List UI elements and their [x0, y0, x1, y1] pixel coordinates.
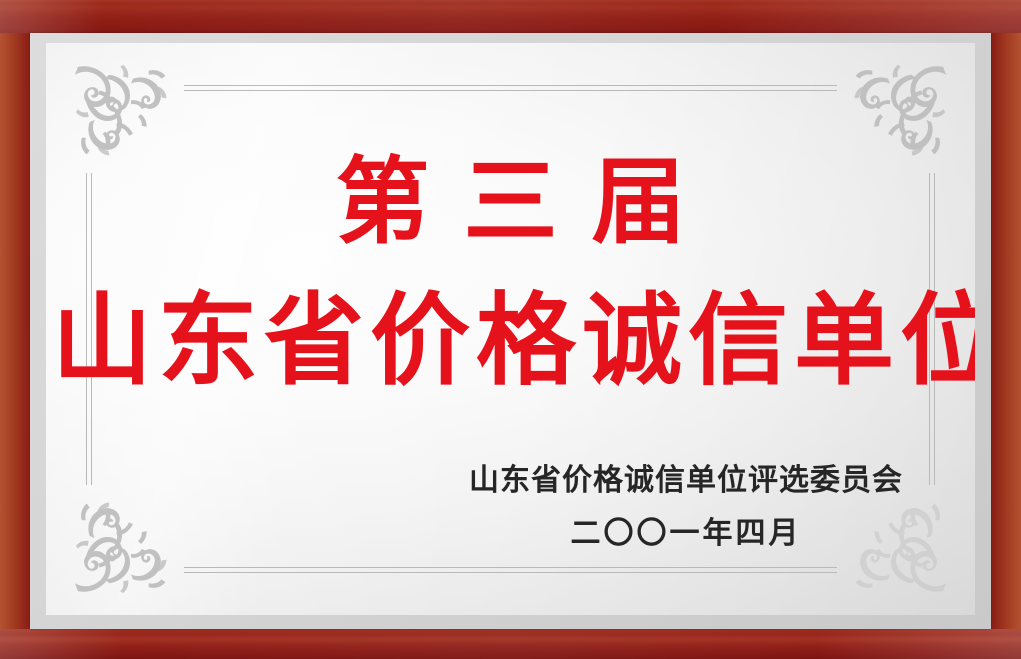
wooden-frame-top — [0, 0, 1021, 33]
signature-block: 山东省价格诚信单位评选委员会 二〇〇一年四月 — [469, 458, 903, 556]
award-plaque: 第三届 山东省价格诚信单位 山东省价格诚信单位评选委员会 二〇〇一年四月 — [0, 0, 1021, 659]
issue-date: 二〇〇一年四月 — [469, 511, 903, 556]
award-title-line-2: 山东省价格诚信单位 — [46, 290, 975, 390]
plaque-content: 第三届 山东省价格诚信单位 山东省价格诚信单位评选委员会 二〇〇一年四月 — [46, 43, 975, 615]
issuing-organization: 山东省价格诚信单位评选委员会 — [469, 458, 903, 503]
award-title-line-1: 第三届 — [46, 155, 975, 249]
plaque-bevel-band: 第三届 山东省价格诚信单位 山东省价格诚信单位评选委员会 二〇〇一年四月 — [30, 33, 991, 629]
wooden-frame-bottom — [0, 629, 1021, 659]
plaque-face: 第三届 山东省价格诚信单位 山东省价格诚信单位评选委员会 二〇〇一年四月 — [46, 43, 975, 615]
